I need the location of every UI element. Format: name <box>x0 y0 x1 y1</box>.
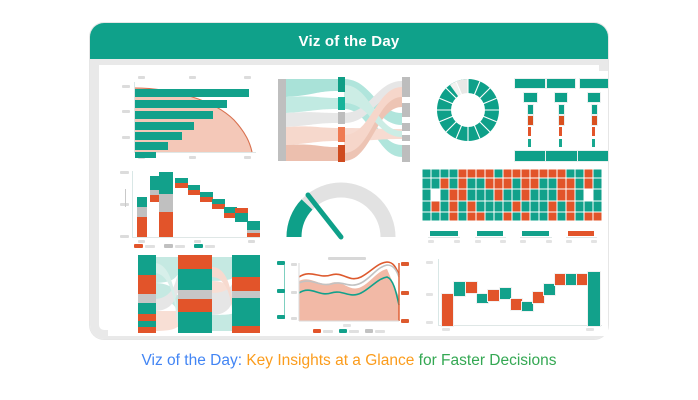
funnel-segment <box>527 115 534 126</box>
chart-alluvial[interactable] <box>116 253 268 335</box>
funnel-segment <box>577 150 608 162</box>
caption-part-1: Viz of the Day: <box>142 352 243 369</box>
bar <box>135 89 249 97</box>
funnel-segment <box>545 150 579 162</box>
bar-segment <box>247 233 260 237</box>
chart-donut[interactable] <box>420 73 510 163</box>
chart-stacked-waterfall[interactable] <box>116 167 268 251</box>
axis-marker <box>401 319 409 323</box>
chart-sankey[interactable] <box>276 73 416 163</box>
funnel-segment <box>546 78 576 89</box>
legend-label <box>145 245 155 248</box>
bar-segment <box>137 217 147 237</box>
heatmap-grid <box>420 167 608 251</box>
bar-segment <box>159 172 173 194</box>
axis-marker <box>401 262 409 266</box>
bar <box>135 122 194 130</box>
funnel-segment <box>528 139 531 147</box>
funnel-segment <box>559 139 562 147</box>
legend-swatch <box>339 329 347 333</box>
bar-segment <box>247 221 260 230</box>
caption-part-2: Key Insights at a Glance <box>246 352 414 369</box>
dashboard-card: Viz of the Day <box>90 23 608 339</box>
axis-marker <box>401 291 409 295</box>
legend-label <box>175 245 185 248</box>
funnel-segment <box>523 92 538 103</box>
dashboard-grid <box>108 71 608 336</box>
bar-segment <box>137 207 147 217</box>
caption: Viz of the Day: Key Insights at a Glance… <box>0 352 698 370</box>
chart-pareto[interactable] <box>116 73 268 161</box>
funnel-segment <box>558 115 565 126</box>
legend-swatch <box>313 329 321 333</box>
card-body <box>90 59 608 339</box>
funnel-segment <box>592 127 595 136</box>
bar-segment <box>159 212 173 237</box>
bar <box>135 152 156 158</box>
funnel-segment <box>587 92 601 103</box>
legend-label <box>375 330 385 333</box>
legend-swatch <box>365 329 373 333</box>
bar-segment <box>137 197 147 207</box>
funnel-segment <box>558 104 565 115</box>
legend-label <box>323 330 333 333</box>
chart-heatmap[interactable] <box>420 167 608 251</box>
bar-segment <box>159 194 173 212</box>
bar <box>135 100 227 108</box>
bar-segment <box>235 208 248 213</box>
chart-gauge[interactable] <box>276 167 416 251</box>
bar-segment <box>188 190 200 195</box>
bar <box>135 132 182 140</box>
waterfall-bar-total <box>587 271 601 327</box>
funnel-segment <box>528 127 531 136</box>
waterfall-bar <box>441 293 454 327</box>
kpi-bar <box>568 231 594 236</box>
page-title: Viz of the Day <box>299 33 400 50</box>
funnel-segment <box>514 78 546 89</box>
legend-label <box>205 245 215 248</box>
bar <box>135 111 213 119</box>
card-header: Viz of the Day <box>90 23 608 59</box>
funnel-segment <box>554 92 568 103</box>
kpi-bar <box>522 231 549 236</box>
bar <box>135 142 168 150</box>
legend-swatch <box>194 244 203 248</box>
chart-area-lines[interactable] <box>273 253 419 335</box>
chart-waterfall[interactable] <box>424 253 608 335</box>
kpi-bar <box>430 231 458 236</box>
kpi-bar <box>477 231 503 236</box>
legend-swatch <box>164 244 173 248</box>
bar-segment <box>175 183 188 188</box>
funnel-segment <box>591 115 598 126</box>
chart-funnel[interactable] <box>512 71 608 167</box>
funnel-segment <box>559 127 562 136</box>
screenshot-root: Viz of the Day <box>0 0 698 400</box>
legend-swatch <box>134 244 143 248</box>
funnel-segment <box>579 78 608 89</box>
funnel-segment <box>527 104 534 115</box>
caption-part-3: for Faster Decisions <box>419 352 557 369</box>
funnel-segment <box>591 104 598 115</box>
funnel-segment <box>514 150 546 162</box>
legend-label <box>349 330 359 333</box>
funnel-segment <box>592 139 595 147</box>
